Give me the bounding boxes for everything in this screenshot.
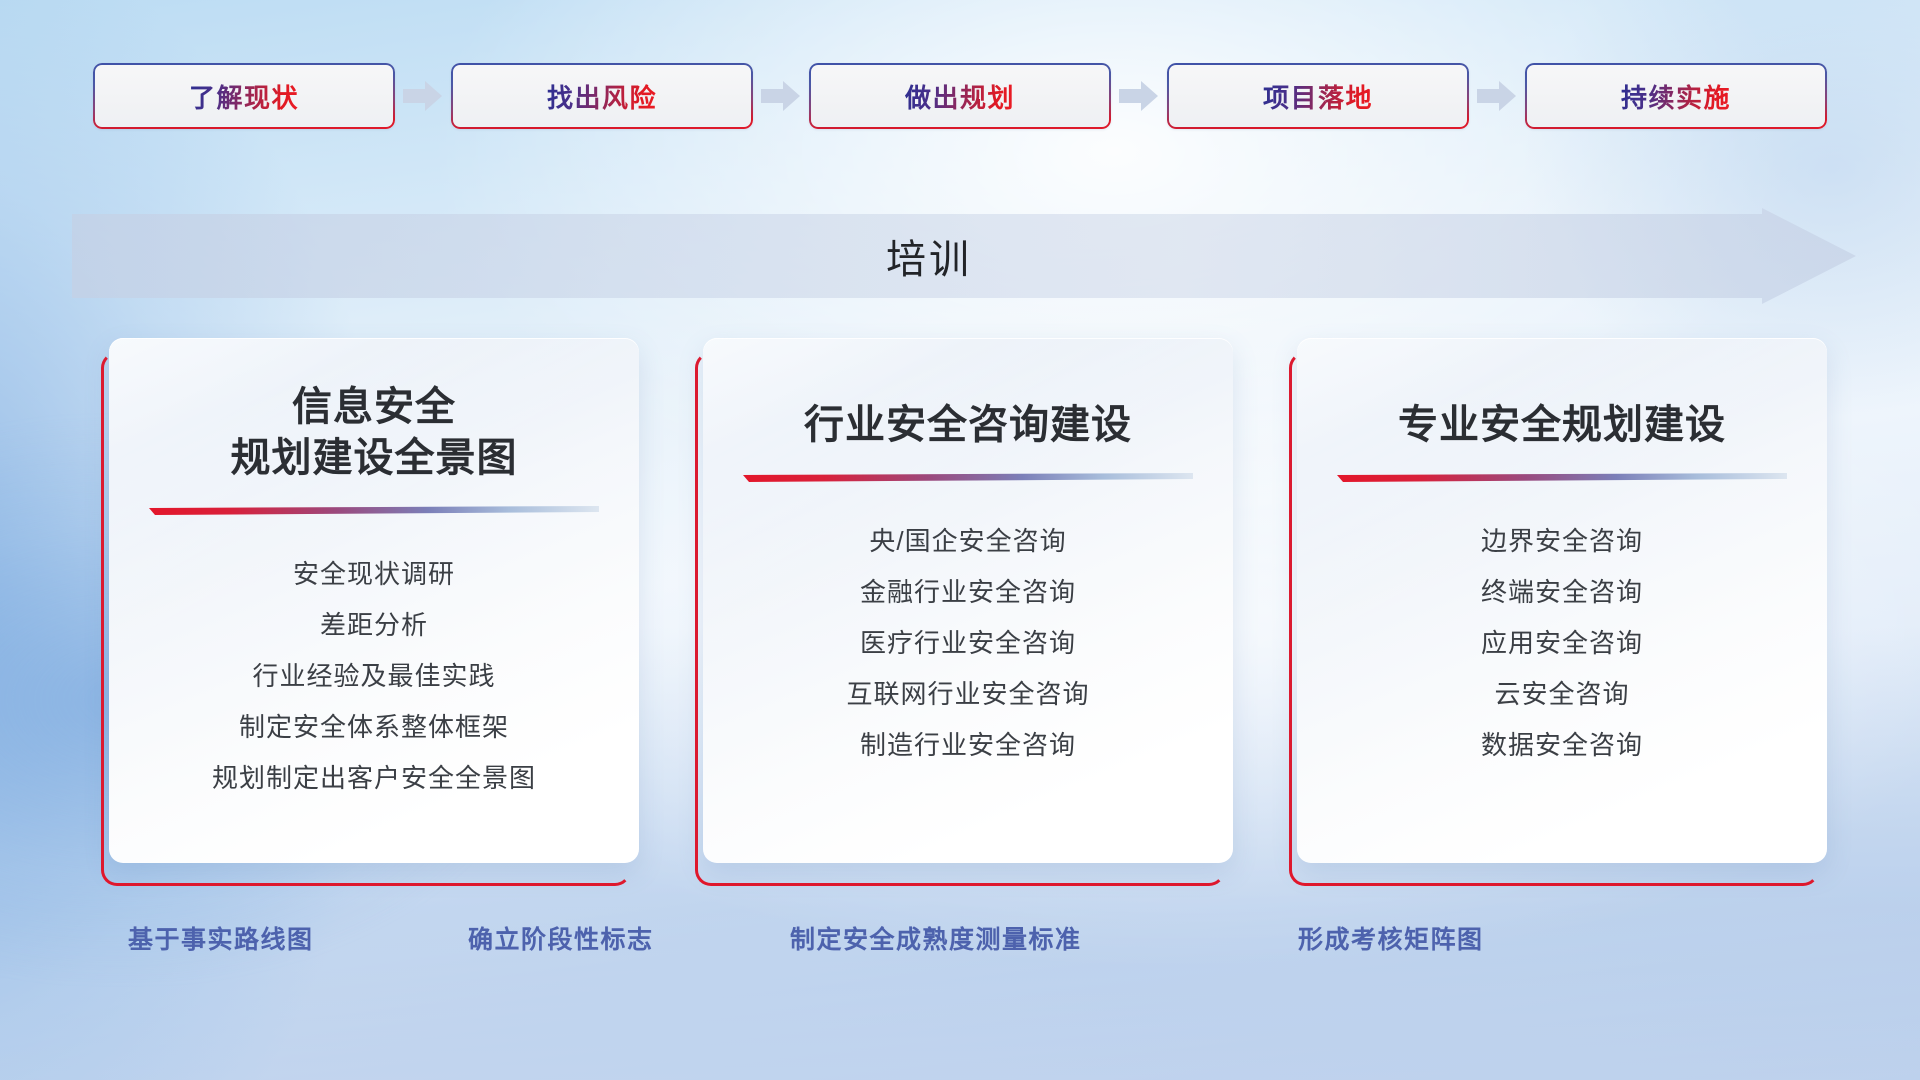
card-list-1: 安全现状调研 差距分析 行业经验及最佳实践 制定安全体系整体框架 规划制定出客户… (212, 549, 536, 804)
list-item: 规划制定出客户安全全景图 (212, 753, 536, 804)
caption-roadmap: 基于事实路线图 (128, 920, 314, 956)
list-item: 金融行业安全咨询 (860, 567, 1076, 618)
card-row: 信息安全 规划建设全景图 (0, 338, 1920, 878)
list-item: 医疗行业安全咨询 (860, 618, 1076, 669)
card-wrap-1: 信息安全 规划建设全景图 (101, 338, 631, 878)
card-wrap-3: 专业安全规划建设 (1289, 338, 1819, 878)
card-title-line: 信息安全 (231, 382, 518, 433)
card-title-2: 行业安全咨询建设 (804, 400, 1132, 451)
list-item: 制定安全体系整体框架 (239, 702, 509, 753)
slide-canvas: 了解现状 找出风险 做出规划 项目落地 持续实施 (0, 0, 1920, 1080)
training-banner-label-wrap: 培训 (72, 208, 1856, 304)
card-industry-consulting[interactable]: 行业安全咨询建设 (703, 338, 1233, 863)
list-item: 边界安全咨询 (1481, 516, 1643, 567)
card-title-3: 专业安全规划建设 (1398, 400, 1726, 451)
arrow-right-icon (1469, 63, 1525, 129)
card-panorama[interactable]: 信息安全 规划建设全景图 (109, 338, 639, 863)
list-item: 数据安全咨询 (1481, 720, 1643, 771)
list-item: 互联网行业安全咨询 (846, 669, 1089, 720)
training-banner-label: 培训 (886, 227, 972, 285)
process-step-row: 了解现状 找出风险 做出规划 项目落地 持续实施 (0, 60, 1920, 132)
list-item: 安全现状调研 (293, 549, 455, 600)
card-title-line: 专业安全规划建设 (1398, 400, 1726, 451)
step-box-2[interactable]: 找出风险 (451, 63, 753, 129)
arrow-right-icon (1111, 63, 1167, 129)
card-divider-3 (1337, 473, 1787, 482)
step-label-5: 持续实施 (1621, 78, 1731, 115)
list-item: 央/国企安全咨询 (869, 516, 1066, 567)
caption-matrix: 形成考核矩阵图 (1298, 920, 1484, 956)
caption-maturity: 制定安全成熟度测量标准 (790, 920, 1082, 956)
card-title-line: 行业安全咨询建设 (804, 400, 1132, 451)
card-divider-2 (743, 473, 1193, 482)
list-item: 行业经验及最佳实践 (252, 651, 495, 702)
training-banner: 培训 (72, 208, 1856, 304)
list-item: 云安全咨询 (1494, 669, 1629, 720)
step-box-1[interactable]: 了解现状 (93, 63, 395, 129)
card-wrap-2: 行业安全咨询建设 (695, 338, 1225, 878)
step-label-1: 了解现状 (189, 78, 299, 115)
card-title-1: 信息安全 规划建设全景图 (231, 382, 518, 484)
card-list-3: 边界安全咨询 终端安全咨询 应用安全咨询 云安全咨询 数据安全咨询 (1481, 516, 1643, 771)
step-label-3: 做出规划 (905, 78, 1015, 115)
card-divider-1 (149, 506, 599, 515)
step-box-4[interactable]: 项目落地 (1167, 63, 1469, 129)
caption-milestone: 确立阶段性标志 (468, 920, 654, 956)
list-item: 制造行业安全咨询 (860, 720, 1076, 771)
step-label-2: 找出风险 (547, 78, 657, 115)
caption-row: 基于事实路线图 确立阶段性标志 制定安全成熟度测量标准 形成考核矩阵图 (0, 920, 1920, 970)
step-box-5[interactable]: 持续实施 (1525, 63, 1827, 129)
list-item: 终端安全咨询 (1481, 567, 1643, 618)
step-box-3[interactable]: 做出规划 (809, 63, 1111, 129)
step-label-4: 项目落地 (1263, 78, 1373, 115)
list-item: 差距分析 (320, 600, 428, 651)
card-title-line: 规划建设全景图 (231, 433, 518, 484)
list-item: 应用安全咨询 (1481, 618, 1643, 669)
card-professional-planning[interactable]: 专业安全规划建设 (1297, 338, 1827, 863)
card-list-2: 央/国企安全咨询 金融行业安全咨询 医疗行业安全咨询 互联网行业安全咨询 制造行… (846, 516, 1089, 771)
arrow-right-icon (395, 63, 451, 129)
arrow-right-icon (753, 63, 809, 129)
